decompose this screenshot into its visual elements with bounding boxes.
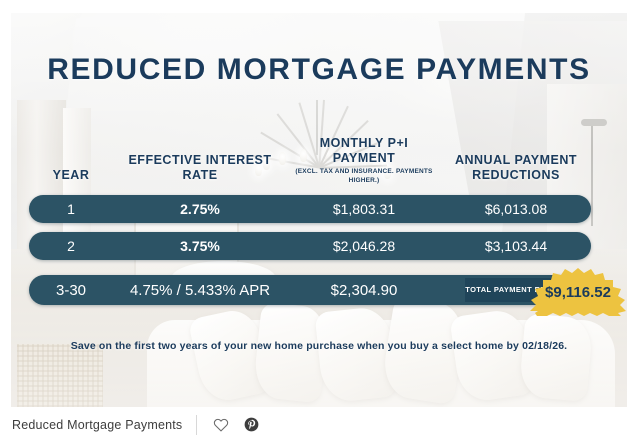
cell-annual: $6,013.08 (425, 195, 607, 223)
column-header-monthly-payment-note: (EXCL. TAX AND INSURANCE. PAYMENTS HIGHE… (291, 168, 437, 185)
cell-annual: $3,103.44 (425, 232, 607, 260)
cell-year: 2 (41, 232, 101, 260)
cell-rate: 3.75% (109, 232, 291, 260)
like-button[interactable] (211, 415, 231, 435)
column-header-monthly-payment-label: MONTHLY P+I PAYMENT (320, 136, 409, 165)
column-header-monthly-payment: MONTHLY P+I PAYMENT (EXCL. TAX AND INSUR… (291, 136, 437, 185)
table-row: 3-30 4.75% / 5.433% APR $2,304.90 TOTAL … (29, 275, 591, 305)
total-payment-reduction-amount: $9,116.52 (527, 268, 629, 316)
pinterest-save-button[interactable] (241, 415, 261, 435)
cell-monthly: $1,803.31 (291, 195, 437, 223)
column-header-annual-payment-reductions: ANNUAL PAYMENT REDUCTIONS (425, 153, 607, 183)
cell-monthly: $2,046.28 (291, 232, 437, 260)
footer-divider (196, 415, 197, 435)
heart-icon (213, 417, 229, 432)
page-title: REDUCED MORTGAGE PAYMENTS (11, 53, 627, 87)
cell-rate: 2.75% (109, 195, 291, 223)
column-header-effective-interest-rate: EFFECTIVE INTEREST RATE (109, 153, 291, 183)
cell-year: 3-30 (41, 275, 101, 305)
column-header-year: YEAR (41, 168, 101, 183)
disclaimer-text: Save on the first two years of your new … (11, 340, 627, 352)
footer-bar: Reduced Mortgage Payments (0, 407, 640, 442)
total-payment-reduction-badge: $9,116.52 (527, 268, 629, 316)
cell-year: 1 (41, 195, 101, 223)
flyer-card: REDUCED MORTGAGE PAYMENTS YEAR EFFECTIVE… (0, 0, 640, 442)
pinterest-icon (244, 417, 259, 432)
table-header-row: YEAR EFFECTIVE INTEREST RATE MONTHLY P+I… (11, 125, 627, 187)
table-row: 1 2.75% $1,803.31 $6,013.08 (29, 195, 591, 223)
flyer-content: REDUCED MORTGAGE PAYMENTS YEAR EFFECTIVE… (11, 13, 627, 407)
cell-monthly: $2,304.90 (291, 275, 437, 305)
footer-title: Reduced Mortgage Payments (12, 418, 182, 432)
cell-rate: 4.75% / 5.433% APR (109, 275, 291, 305)
table-row: 2 3.75% $2,046.28 $3,103.44 (29, 232, 591, 260)
